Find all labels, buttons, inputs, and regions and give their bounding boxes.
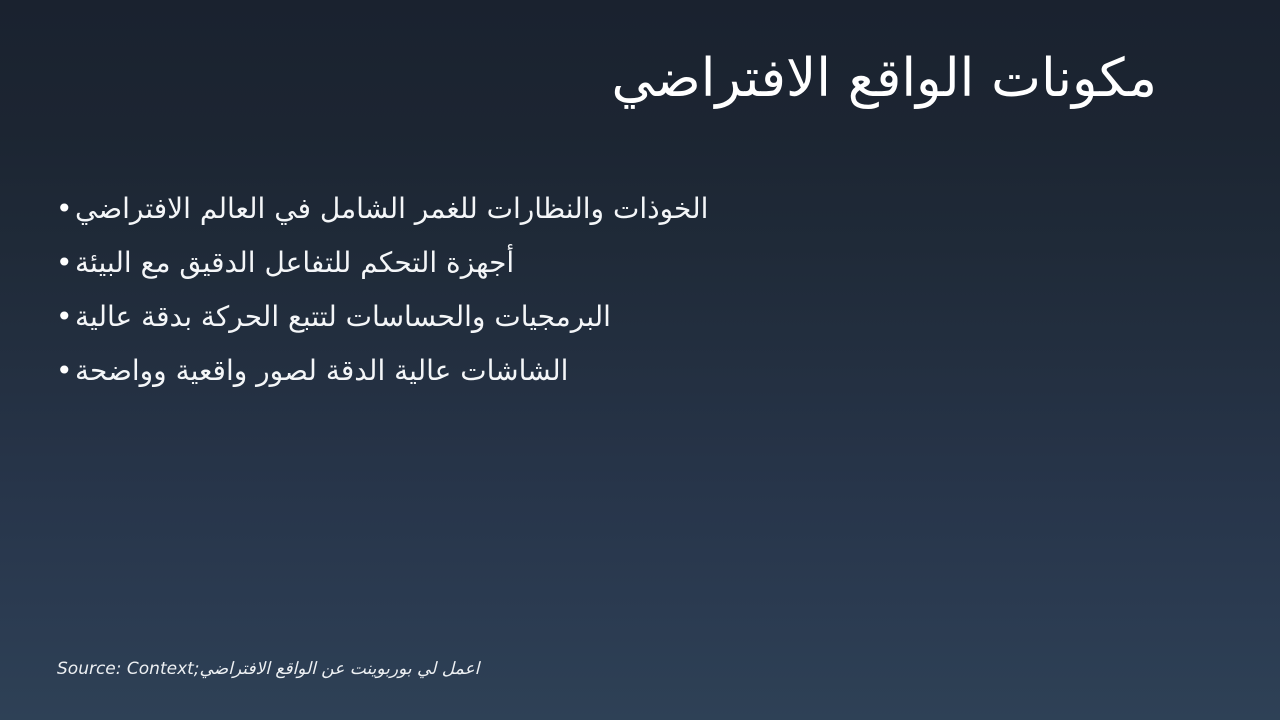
bullet-list: • الخوذات والنظارات للغمر الشامل في العا… bbox=[56, 182, 1216, 398]
bullet-item-4: • الشاشات عالية الدقة لصور واقعية وواضحة bbox=[56, 344, 1216, 398]
bullet-item-3-text: البرمجيات والحساسات لتتبع الحركة بدقة عا… bbox=[75, 290, 611, 344]
bullet-item-1-text: الخوذات والنظارات للغمر الشامل في العالم… bbox=[75, 182, 708, 236]
source-label: Source: Context; bbox=[57, 659, 200, 679]
bullet-item-2: • أجهزة التحكم للتفاعل الدقيق مع البيئة bbox=[56, 236, 1216, 290]
bullet-item-2-text: أجهزة التحكم للتفاعل الدقيق مع البيئة bbox=[75, 236, 514, 290]
bullet-dot-icon: • bbox=[56, 344, 75, 398]
source-value: اعمل لي بوربوينت عن الواقع الافتراضي bbox=[200, 659, 480, 679]
bullet-dot-icon: • bbox=[56, 182, 75, 236]
bullet-dot-icon: • bbox=[56, 290, 75, 344]
bullet-item-4-text: الشاشات عالية الدقة لصور واقعية وواضحة bbox=[75, 344, 568, 398]
bullet-item-1: • الخوذات والنظارات للغمر الشامل في العا… bbox=[56, 182, 1216, 236]
presentation-slide: مكونات الواقع الافتراضي • الخوذات والنظا… bbox=[0, 0, 1280, 720]
source-note: Source: Context;اعمل لي بوربوينت عن الوا… bbox=[57, 656, 479, 682]
bullet-item-3: • البرمجيات والحساسات لتتبع الحركة بدقة … bbox=[56, 290, 1216, 344]
bullet-dot-icon: • bbox=[56, 236, 75, 290]
slide-title-text: مكونات الواقع الافتراضي bbox=[612, 48, 1157, 109]
slide-title: مكونات الواقع الافتراضي bbox=[57, 48, 1157, 109]
